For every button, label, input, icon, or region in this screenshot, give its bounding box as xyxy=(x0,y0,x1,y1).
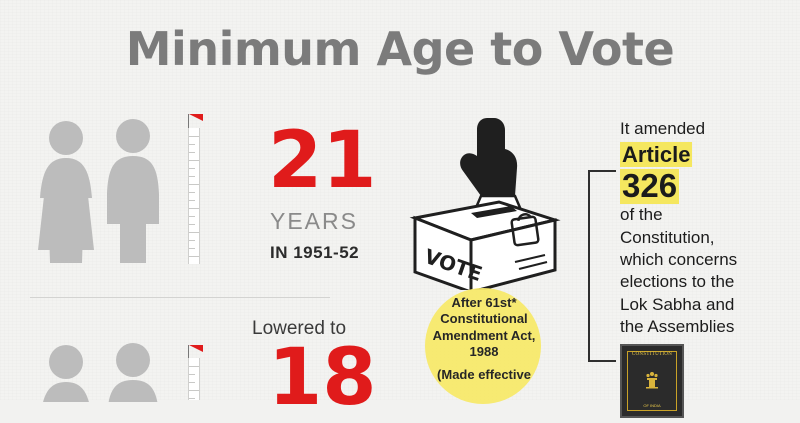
constitution-book: CONSTITUTION OF INDIA xyxy=(620,344,684,418)
note-text: After 61st* Constitutional Amendment Act… xyxy=(418,295,550,383)
age-unit-label: YEARS xyxy=(270,208,358,235)
scale-pole-top xyxy=(188,114,189,128)
amendment-article-number: 326 xyxy=(620,169,796,204)
scale-marker-bottom-icon xyxy=(189,345,203,352)
infographic-page: Minimum Age to Vote 21 Y xyxy=(0,0,800,400)
section-divider xyxy=(30,297,330,298)
india-emblem-icon xyxy=(644,370,660,392)
ballot-box-illustration: VOTE xyxy=(395,110,575,295)
age-number-21: 21 xyxy=(268,128,377,194)
note-line-5: (Made effective xyxy=(418,367,550,383)
note-line-1: After 61st* xyxy=(451,295,516,310)
amendment-line-2: of the xyxy=(620,204,796,226)
page-title: Minimum Age to Vote xyxy=(0,22,800,76)
amendment-text: It amended Article 326 of the Constituti… xyxy=(620,118,796,339)
age-scale-top xyxy=(188,128,200,264)
note-line-2: Constitutional xyxy=(440,311,527,326)
people-group-bottom xyxy=(28,342,178,402)
connector-bottom-horizontal xyxy=(588,360,616,362)
people-group-top xyxy=(28,118,178,263)
amendment-line-6: Lok Sabha and xyxy=(620,294,796,316)
amendment-line-7: the Assemblies xyxy=(620,316,796,338)
connector-top-horizontal xyxy=(588,170,616,172)
age-year-label: IN 1951-52 xyxy=(270,243,359,263)
amendment-line-3: Constitution, xyxy=(620,227,796,249)
book-title: CONSTITUTION xyxy=(622,352,682,357)
amendment-line-1: It amended xyxy=(620,118,796,140)
age-scale-bottom xyxy=(188,358,200,400)
age-number-18: 18 xyxy=(268,345,377,411)
scale-pole-bottom xyxy=(188,345,189,358)
scale-marker-top-icon xyxy=(189,114,203,121)
book-subtitle: OF INDIA xyxy=(622,403,682,408)
amendment-line-5: elections to the xyxy=(620,271,796,293)
connector-vertical xyxy=(588,170,590,362)
amendment-line-4: which concerns xyxy=(620,249,796,271)
note-line-3: Amendment xyxy=(433,328,508,343)
amendment-article-word: Article xyxy=(620,140,796,169)
